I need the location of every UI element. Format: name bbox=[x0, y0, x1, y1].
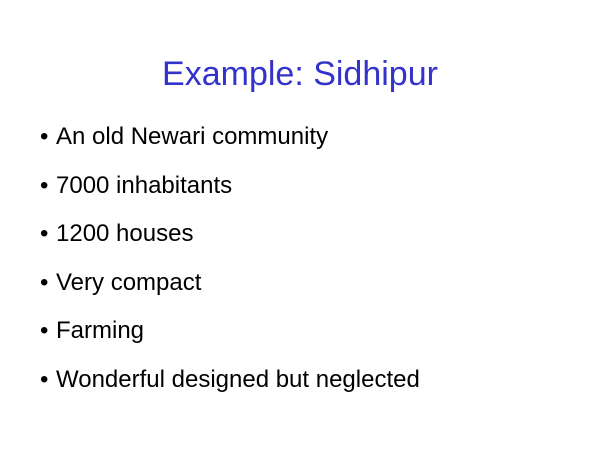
bullet-point-icon: • bbox=[34, 169, 56, 203]
list-item-label: An old Newari community bbox=[56, 120, 574, 154]
bullet-list: • An old Newari community • 7000 inhabit… bbox=[34, 120, 574, 411]
list-item: • 7000 inhabitants bbox=[34, 169, 574, 218]
list-item: • Wonderful designed but neglected bbox=[34, 363, 574, 412]
list-item: • Farming bbox=[34, 314, 574, 363]
slide-title: Example: Sidhipur bbox=[0, 54, 600, 94]
list-item-label: Wonderful designed but neglected bbox=[56, 363, 574, 397]
list-item-label: 1200 houses bbox=[56, 217, 574, 251]
list-item: • 1200 houses bbox=[34, 217, 574, 266]
list-item: • Very compact bbox=[34, 266, 574, 315]
bullet-point-icon: • bbox=[34, 217, 56, 251]
list-item-label: Farming bbox=[56, 314, 574, 348]
bullet-point-icon: • bbox=[34, 266, 56, 300]
bullet-point-icon: • bbox=[34, 120, 56, 154]
list-item: • An old Newari community bbox=[34, 120, 574, 169]
presentation-slide: Example: Sidhipur • An old Newari commun… bbox=[0, 0, 600, 450]
bullet-point-icon: • bbox=[34, 314, 56, 348]
list-item-label: 7000 inhabitants bbox=[56, 169, 574, 203]
list-item-label: Very compact bbox=[56, 266, 574, 300]
bullet-point-icon: • bbox=[34, 363, 56, 397]
